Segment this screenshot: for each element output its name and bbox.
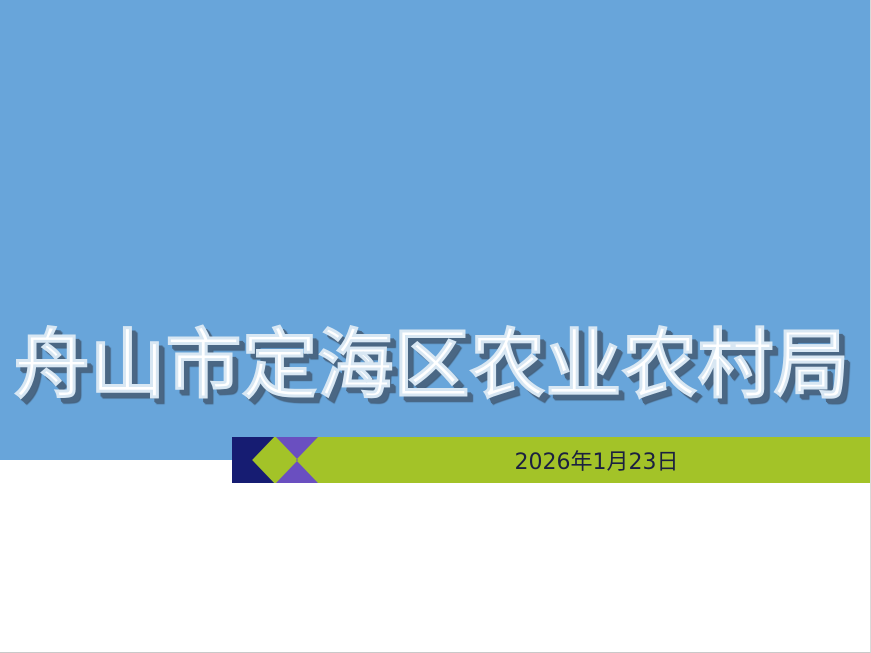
slide-background-lower — [0, 460, 871, 653]
presentation-slide: 舟山市定海区农业农村局 2026年1月23日 — [0, 0, 871, 653]
chevron-purple-icon — [276, 437, 318, 483]
slide-date: 2026年1月23日 — [322, 437, 871, 483]
page-title: 舟山市定海区农业农村局 — [0, 327, 871, 403]
chevron-navy-icon-body — [232, 437, 274, 483]
chevron-decoration — [232, 437, 322, 483]
